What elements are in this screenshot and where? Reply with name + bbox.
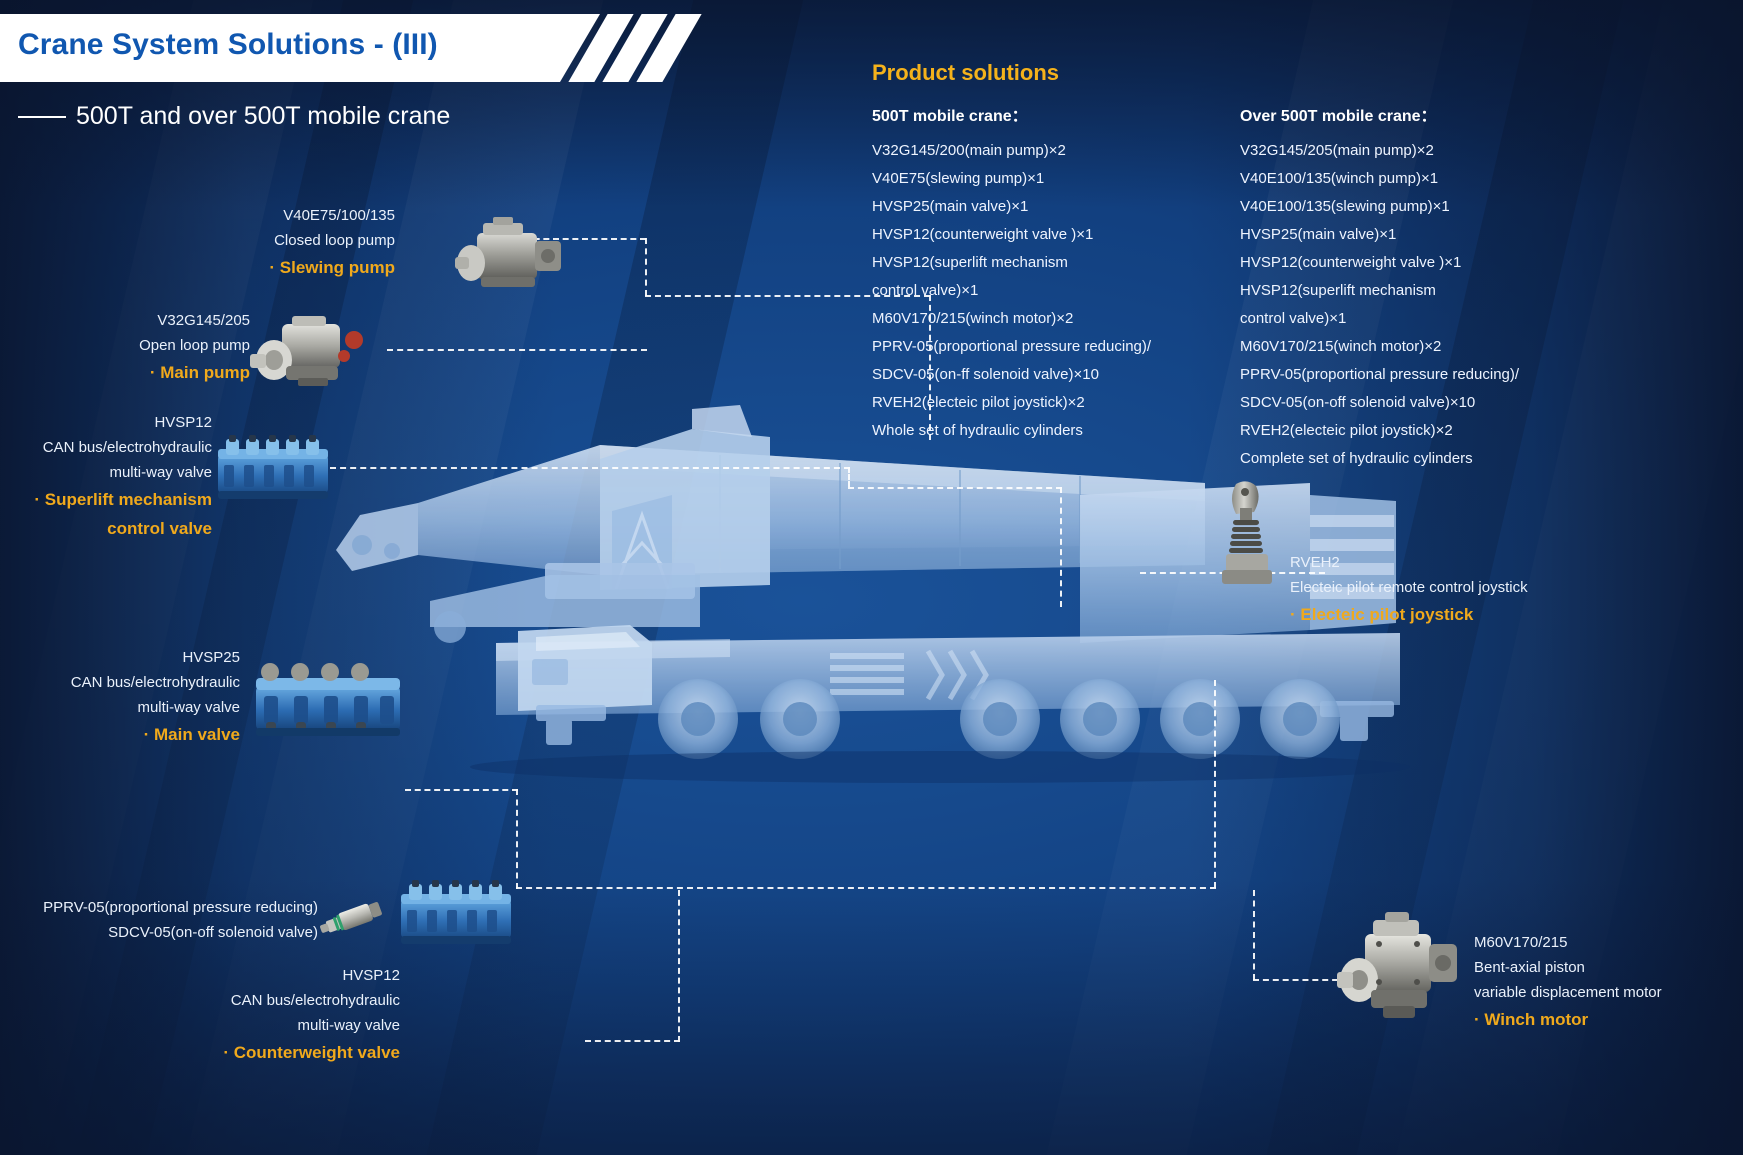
- callout-highlight: · Counterweight valve: [80, 1038, 400, 1067]
- spec-line: HVSP25(main valve)×1: [1240, 221, 1660, 249]
- callout-line: HVSP12: [80, 963, 400, 988]
- spec-line: control valve)×1: [1240, 305, 1660, 333]
- product-column-500t: 500T mobile crane： V32G145/200(main pump…: [872, 102, 1232, 445]
- main-pump-image: [246, 310, 366, 402]
- callout-highlight: · Superlift mechanism: [0, 485, 212, 514]
- spec-line: V40E100/135(winch pump)×1: [1240, 165, 1660, 193]
- callout-line: V40E75/100/135: [150, 203, 395, 228]
- callout-line: variable displacement motor: [1474, 980, 1743, 1005]
- spec-line: Whole set of hydraulic cylinders: [872, 417, 1232, 445]
- spec-line: M60V170/215(winch motor)×2: [1240, 333, 1660, 361]
- spec-line: RVEH2(electeic pilot joystick)×2: [872, 389, 1232, 417]
- wheel: [1260, 679, 1340, 759]
- column-title-over-500t: Over 500T mobile crane：: [1240, 102, 1660, 126]
- callout-line: HVSP25: [0, 645, 240, 670]
- spec-line: SDCV-05(on-ff solenoid valve)×10: [872, 361, 1232, 389]
- connector-superlift-2: [848, 487, 1062, 489]
- subtitle-dash: [18, 116, 66, 118]
- callout-line: CAN bus/electrohydraulic: [0, 435, 212, 460]
- wheel: [1160, 679, 1240, 759]
- wheel: [658, 679, 738, 759]
- page-subtitle: 500T and over 500T mobile crane: [18, 102, 450, 131]
- spec-line: HVSP12(superlift mechanism: [1240, 277, 1660, 305]
- callout-line: SDCV-05(on-off solenoid valve): [0, 920, 318, 945]
- winch-motor-image: [1335, 910, 1465, 1035]
- spec-line: V40E75(slewing pump)×1: [872, 165, 1232, 193]
- connector-main-valve-vertical: [516, 789, 518, 889]
- callout-line: multi-way valve: [0, 460, 212, 485]
- connector-winch-motor: [1253, 979, 1348, 981]
- joystick-image: [1212, 478, 1282, 590]
- callout-line: Bent-axial piston: [1474, 955, 1743, 980]
- callout-line: RVEH2: [1290, 550, 1690, 575]
- wheel: [960, 679, 1040, 759]
- connector-main-valve-2: [516, 887, 1216, 889]
- callout-line: CAN bus/electrohydraulic: [80, 988, 400, 1013]
- connector-slewing-pump-2: [645, 295, 930, 297]
- connector-slewing-pump-vertical: [645, 238, 647, 296]
- page-title: Crane System Solutions - (III): [18, 28, 438, 62]
- spec-line: PPRV-05(proportional pressure reducing)/: [872, 333, 1232, 361]
- connector-slewing-pump-vertical-2: [929, 295, 931, 440]
- callout-highlight: · Electeic pilot joystick: [1290, 600, 1690, 629]
- connector-superlift-vertical-2: [1060, 487, 1062, 607]
- callout-highlight: control valve: [0, 514, 212, 543]
- callout-line: multi-way valve: [80, 1013, 400, 1038]
- callout-line: M60V170/215: [1474, 930, 1743, 955]
- callout-main-pump: V32G145/205 Open loop pump · Main pump: [20, 308, 250, 387]
- wheel: [1060, 679, 1140, 759]
- slewing-pump-image: [453, 215, 573, 305]
- connector-main-valve-vertical-2: [1214, 680, 1216, 888]
- wheel: [760, 679, 840, 759]
- callout-line: HVSP12: [0, 410, 212, 435]
- callout-highlight: · Main valve: [0, 720, 240, 749]
- spec-line: V32G145/200(main pump)×2: [872, 137, 1232, 165]
- callout-highlight: · Winch motor: [1474, 1005, 1743, 1034]
- spec-line: RVEH2(electeic pilot joystick)×2: [1240, 417, 1660, 445]
- callout-line: V32G145/205: [20, 308, 250, 333]
- spec-line: HVSP12(superlift mechanism: [872, 249, 1232, 277]
- page-subtitle-text: 500T and over 500T mobile crane: [76, 102, 450, 130]
- callout-line: Electeic pilot remote control joystick: [1290, 575, 1690, 600]
- counterweight-valve-image: [395, 880, 517, 952]
- spec-line: V40E100/135(slewing pump)×1: [1240, 193, 1660, 221]
- callout-line: PPRV-05(proportional pressure reducing): [0, 895, 318, 920]
- spec-line: PPRV-05(proportional pressure reducing)/: [1240, 361, 1660, 389]
- spec-line: HVSP25(main valve)×1: [872, 193, 1232, 221]
- callout-line: multi-way valve: [0, 695, 240, 720]
- connector-superlift-vertical: [848, 467, 850, 487]
- callout-line: Closed loop pump: [150, 228, 395, 253]
- product-solutions-heading: Product solutions: [872, 60, 1732, 86]
- callout-joystick: RVEH2 Electeic pilot remote control joys…: [1290, 550, 1690, 629]
- callout-slewing-pump: V40E75/100/135 Closed loop pump · Slewin…: [150, 203, 395, 282]
- callout-line: Open loop pump: [20, 333, 250, 358]
- connector-counterweight: [585, 1040, 680, 1042]
- spec-line: HVSP12(counterweight valve )×1: [1240, 249, 1660, 277]
- callout-highlight: · Main pump: [20, 358, 250, 387]
- connector-superlift: [330, 467, 850, 469]
- callout-superlift-valve: HVSP12 CAN bus/electrohydraulic multi-wa…: [0, 410, 212, 543]
- connector-winch-motor-vertical: [1253, 890, 1255, 980]
- spec-line: HVSP12(counterweight valve )×1: [872, 221, 1232, 249]
- superlift-valve-image: [212, 435, 334, 507]
- spec-line: SDCV-05(on-off solenoid valve)×10: [1240, 389, 1660, 417]
- callout-pprv-sdcv: PPRV-05(proportional pressure reducing) …: [0, 895, 318, 945]
- connector-main-valve: [405, 789, 518, 791]
- main-valve-image: [248, 660, 408, 750]
- spec-line: Complete set of hydraulic cylinders: [1240, 445, 1660, 473]
- solenoid-valve-image: [314, 898, 386, 940]
- product-column-over-500t: Over 500T mobile crane： V32G145/205(main…: [1240, 102, 1660, 473]
- product-solutions-panel: Product solutions 500T mobile crane： V32…: [872, 60, 1732, 102]
- callout-main-valve: HVSP25 CAN bus/electrohydraulic multi-wa…: [0, 645, 240, 749]
- spec-line: M60V170/215(winch motor)×2: [872, 305, 1232, 333]
- callout-highlight: · Slewing pump: [150, 253, 395, 282]
- column-title-500t: 500T mobile crane：: [872, 102, 1232, 126]
- callout-counterweight-valve: HVSP12 CAN bus/electrohydraulic multi-wa…: [80, 963, 400, 1067]
- connector-main-pump: [387, 349, 647, 351]
- connector-counterweight-vertical: [678, 890, 680, 1042]
- callout-line: CAN bus/electrohydraulic: [0, 670, 240, 695]
- callout-winch-motor: M60V170/215 Bent-axial piston variable d…: [1474, 930, 1743, 1034]
- spec-line: control valve)×1: [872, 277, 1232, 305]
- spec-line: V32G145/205(main pump)×2: [1240, 137, 1660, 165]
